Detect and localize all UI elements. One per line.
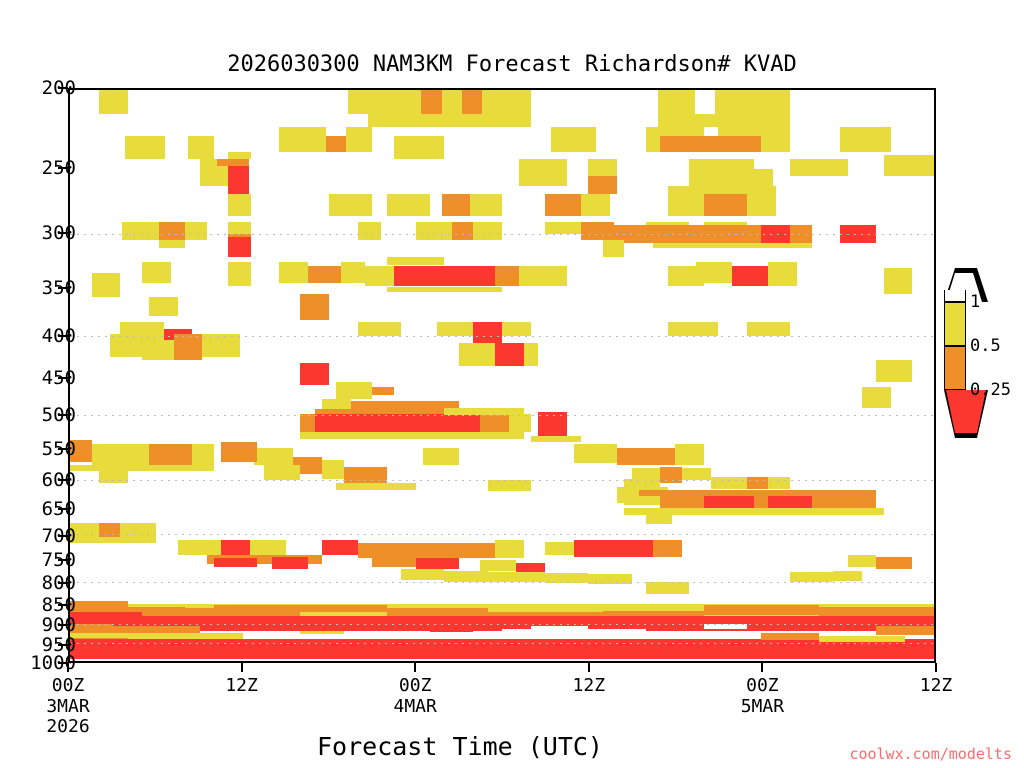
- heatmap-cell: [488, 480, 531, 492]
- heatmap-cell: [452, 222, 474, 240]
- heatmap-cell: [551, 127, 596, 152]
- heatmap-cell: [581, 194, 610, 216]
- x-tick-mark: [67, 663, 69, 672]
- heatmap-cell: [876, 557, 912, 570]
- heatmap-cell: [358, 543, 495, 558]
- x-tick-label: 12Z: [172, 676, 312, 697]
- heatmap-cell: [819, 636, 905, 642]
- heatmap-cell: [715, 90, 790, 114]
- colorbar-tick-label: 1: [970, 294, 980, 311]
- heatmap-cell: [653, 243, 811, 248]
- heatmap-cell: [348, 90, 421, 114]
- y-tick-label: 850: [0, 596, 76, 615]
- heatmap-cell: [70, 537, 156, 543]
- heatmap-cell: [300, 363, 329, 385]
- heatmap-cell: [480, 414, 509, 433]
- heatmap-cell: [113, 626, 199, 634]
- heatmap-cell: [308, 266, 341, 284]
- heatmap-cell: [442, 90, 462, 114]
- heatmap-cell: [149, 444, 192, 464]
- heatmap-cell: [675, 444, 704, 464]
- heatmap-cell: [668, 186, 704, 216]
- heatmap-cell: [545, 222, 581, 234]
- heatmap-cell: [228, 222, 251, 234]
- heatmap-cell: [682, 468, 711, 480]
- heatmap-cell: [142, 262, 171, 283]
- heatmap-cell: [653, 540, 682, 556]
- heatmap-cell: [188, 136, 214, 159]
- heatmap-cell: [70, 612, 142, 623]
- heatmap-cell: [387, 257, 445, 266]
- heatmap-cell: [394, 136, 444, 159]
- y-tick-label: 1000: [0, 654, 76, 673]
- heatmap-cell: [617, 448, 675, 465]
- colorbar-tick-label: 0.25: [970, 382, 1011, 399]
- colorbar-band-yellow: [944, 302, 966, 346]
- heatmap-cell: [603, 240, 625, 257]
- heatmap-cell: [300, 294, 329, 320]
- heatmap-cell: [732, 266, 768, 287]
- heatmap-cell: [142, 340, 174, 360]
- heatmap-cell: [531, 436, 581, 443]
- y-tick-label: 450: [0, 369, 76, 388]
- heatmap-cell: [495, 266, 519, 287]
- x-tick-label: 00Z 5MAR: [692, 676, 832, 717]
- y-tick-label: 250: [0, 159, 76, 178]
- heatmap-cell: [646, 508, 672, 524]
- heatmap-cell: [617, 487, 639, 503]
- heatmap-cell: [322, 540, 358, 555]
- x-tick-mark: [761, 663, 763, 672]
- plot-area: [68, 88, 936, 663]
- x-tick-label: 12Z: [519, 676, 659, 697]
- y-tick-label: 550: [0, 440, 76, 459]
- heatmap-canvas: [70, 90, 934, 661]
- heatmap-cell: [884, 268, 913, 294]
- heatmap-cell: [250, 540, 286, 555]
- heatmap-cell: [473, 222, 502, 240]
- heatmap-cell: [346, 127, 372, 152]
- heatmap-cell: [495, 540, 524, 557]
- heatmap-cell: [862, 387, 891, 408]
- heatmap-cell: [761, 633, 819, 639]
- heatmap-cell: [336, 483, 415, 491]
- heatmap-cell: [462, 90, 482, 114]
- heatmap-cell: [482, 90, 531, 114]
- heatmap-cell: [387, 287, 502, 292]
- gridline-horizontal: [70, 582, 934, 583]
- heatmap-cell: [876, 360, 912, 382]
- heatmap-cell: [588, 176, 617, 194]
- heatmap-cell: [646, 222, 689, 226]
- heatmap-cell: [322, 460, 344, 478]
- heatmap-cell: [264, 465, 300, 480]
- heatmap-cell: [658, 90, 695, 114]
- heatmap-cell: [122, 222, 159, 240]
- heatmap-cell: [228, 166, 248, 194]
- gridline-horizontal: [70, 234, 934, 235]
- y-tick-label: 900: [0, 616, 76, 635]
- heatmap-cell: [300, 631, 343, 635]
- heatmap-cell: [70, 645, 934, 660]
- heatmap-cell: [372, 558, 415, 567]
- x-axis-title: Forecast Time (UTC): [250, 732, 670, 761]
- heatmap-cell: [473, 322, 502, 344]
- heatmap-cell: [92, 444, 150, 464]
- x-tick-mark: [241, 663, 243, 672]
- heatmap-cell: [581, 222, 614, 240]
- heatmap-cell: [480, 560, 516, 571]
- y-tick-label: 300: [0, 224, 76, 243]
- heatmap-cell: [768, 496, 811, 508]
- heatmap-cell: [159, 222, 185, 240]
- heatmap-cell: [819, 624, 877, 631]
- y-tick-label: 650: [0, 500, 76, 519]
- heatmap-cell: [430, 628, 473, 632]
- heatmap-cell: [574, 444, 617, 462]
- heatmap-cell: [217, 159, 249, 166]
- x-tick-label: 00Z 4MAR: [345, 676, 485, 717]
- gridline-horizontal: [70, 643, 934, 644]
- heatmap-cell: [308, 414, 481, 433]
- heatmap-cell: [509, 414, 531, 433]
- heatmap-cell: [192, 444, 214, 464]
- heatmap-cell: [322, 399, 351, 409]
- gridline-horizontal: [70, 534, 934, 535]
- y-tick-label: 700: [0, 527, 76, 546]
- heatmap-cell: [790, 572, 833, 582]
- heatmap-cell: [368, 114, 531, 127]
- heatmap-cell: [279, 262, 308, 283]
- y-tick-label: 750: [0, 551, 76, 570]
- heatmap-cell: [329, 194, 372, 216]
- heatmap-cell: [437, 322, 473, 336]
- heatmap-cell: [646, 582, 689, 594]
- heatmap-cell: [531, 626, 589, 631]
- heatmap-cell: [149, 297, 178, 316]
- colorbar-band-orange: [944, 346, 966, 390]
- heatmap-cell: [668, 322, 718, 336]
- heatmap-cell: [300, 432, 523, 439]
- heatmap-cell: [747, 322, 790, 336]
- heatmap-cell: [341, 262, 365, 283]
- heatmap-cell: [840, 127, 890, 152]
- heatmap-cell: [876, 626, 934, 636]
- heatmap-cell: [254, 448, 293, 465]
- y-tick-label: 200: [0, 79, 76, 98]
- heatmap-cell: [228, 237, 251, 256]
- heatmap-cell: [488, 572, 546, 582]
- heatmap-cell: [99, 90, 128, 114]
- heatmap-cell: [125, 136, 165, 159]
- heatmap-cell: [300, 414, 314, 433]
- heatmap-cell: [358, 222, 381, 240]
- heatmap-cell: [848, 555, 877, 567]
- heatmap-cell: [884, 155, 934, 177]
- heatmap-cell: [704, 222, 747, 226]
- y-tick-label: 800: [0, 574, 76, 593]
- gridline-horizontal: [70, 480, 934, 481]
- gridline-horizontal: [70, 415, 934, 416]
- heatmap-cell: [110, 334, 142, 357]
- heatmap-cell: [387, 194, 430, 216]
- heatmap-cell: [99, 471, 128, 483]
- heatmap-cell: [658, 114, 790, 127]
- heatmap-cell: [421, 90, 441, 114]
- x-tick-mark: [935, 663, 937, 672]
- colorbar-band-white: [944, 290, 966, 302]
- y-tick-label: 600: [0, 471, 76, 490]
- heatmap-cell: [416, 222, 452, 240]
- heatmap-cell: [704, 496, 754, 508]
- heatmap-cell: [92, 273, 121, 297]
- chart-title: 2026030300 NAM3KM Forecast Richardson# K…: [0, 52, 1024, 77]
- credit-watermark: coolwx.com/modelts: [849, 745, 1012, 763]
- heatmap-cell: [70, 624, 113, 634]
- heatmap-cell: [174, 334, 203, 360]
- heatmap-cell: [228, 194, 251, 216]
- heatmap-cell: [668, 266, 704, 287]
- gridline-horizontal: [70, 624, 934, 625]
- heatmap-cell: [228, 152, 251, 159]
- heatmap-cell: [336, 382, 372, 399]
- heatmap-cell: [704, 605, 819, 614]
- heatmap-cell: [358, 322, 401, 336]
- heatmap-cell: [819, 607, 934, 616]
- heatmap-cell: [326, 136, 346, 151]
- heatmap-cell: [545, 194, 581, 216]
- x-tick-label: 00Z 3MAR 2026: [0, 676, 138, 738]
- heatmap-cell: [214, 558, 257, 567]
- gridline-horizontal: [70, 336, 934, 337]
- heatmap-cell: [159, 240, 185, 248]
- heatmap-cell: [351, 401, 459, 414]
- gridline-horizontal: [70, 661, 934, 662]
- heatmap-cell: [279, 127, 327, 152]
- heatmap-cell: [365, 266, 394, 287]
- heatmap-cell: [185, 222, 207, 240]
- heatmap-cell: [545, 542, 574, 555]
- colorbar-legend: 10.50.25: [944, 302, 966, 464]
- y-tick-label: 500: [0, 406, 76, 425]
- heatmap-cell: [660, 136, 761, 151]
- y-tick-label: 350: [0, 279, 76, 298]
- heatmap-cell: [214, 605, 387, 612]
- heatmap-cell: [416, 558, 459, 569]
- heatmap-cell: [516, 563, 545, 572]
- heatmap-cell: [470, 194, 502, 216]
- heatmap-cell: [423, 448, 459, 465]
- heatmap-cell: [833, 571, 862, 581]
- heatmap-cell: [768, 262, 797, 286]
- heatmap-cell: [495, 343, 524, 366]
- heatmap-cell: [790, 159, 848, 176]
- heatmap-cell: [502, 322, 531, 336]
- chart-root: 2026030300 NAM3KM Forecast Richardson# K…: [0, 0, 1024, 768]
- heatmap-cell: [70, 465, 214, 471]
- heatmap-cell: [372, 387, 394, 395]
- heatmap-cell: [202, 334, 239, 357]
- heatmap-cell: [401, 569, 444, 579]
- x-tick-label: 12Z: [866, 676, 1006, 697]
- x-tick-mark: [588, 663, 590, 672]
- y-tick-label: 400: [0, 327, 76, 346]
- heatmap-cell: [394, 266, 495, 287]
- heatmap-cell: [574, 540, 653, 556]
- colorbar-tick-label: 0.5: [970, 338, 1001, 355]
- heatmap-cell: [538, 266, 567, 287]
- x-tick-mark: [414, 663, 416, 672]
- heatmap-cell: [747, 186, 776, 216]
- heatmap-cell: [70, 601, 128, 612]
- heatmap-cell: [444, 571, 487, 582]
- heatmap-cell: [272, 557, 308, 570]
- heatmap-cell: [588, 159, 617, 176]
- heatmap-cell: [519, 159, 567, 186]
- heatmap-cell: [735, 169, 772, 186]
- heatmap-cell: [178, 540, 221, 555]
- heatmap-cell: [442, 194, 471, 216]
- heatmap-cell: [228, 262, 251, 286]
- heatmap-cell: [221, 442, 257, 461]
